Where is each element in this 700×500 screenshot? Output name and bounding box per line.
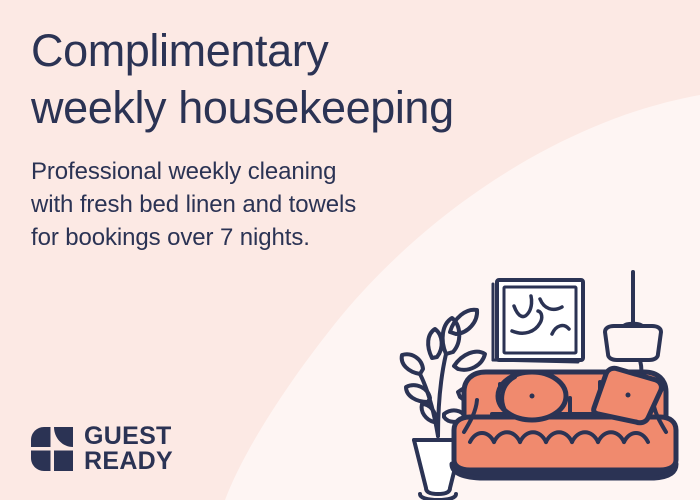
sofa-icon xyxy=(452,368,676,478)
logo-quadrant-top-left xyxy=(31,427,51,447)
living-room-illustration xyxy=(392,262,692,500)
brand-logo: GUEST READY xyxy=(31,424,173,474)
brand-word-ready: READY xyxy=(84,449,173,474)
guestready-logo-mark-icon xyxy=(31,427,73,471)
promo-banner: Complimentary weekly housekeeping Profes… xyxy=(0,0,700,500)
page-title: Complimentary weekly housekeeping xyxy=(31,22,591,136)
framed-artwork-icon xyxy=(493,280,583,362)
copy-block: Complimentary weekly housekeeping Profes… xyxy=(31,22,591,254)
logo-quadrant-bottom-right xyxy=(54,451,73,472)
brand-wordmark: GUEST READY xyxy=(84,424,173,474)
brand-word-guest: GUEST xyxy=(84,424,173,449)
pendant-lamp-icon xyxy=(605,272,661,380)
lamp-shade xyxy=(605,326,661,360)
sofa-round-cushion-button xyxy=(530,394,535,399)
logo-quadrant-bottom-left xyxy=(31,451,51,472)
sofa-square-cushion-button xyxy=(626,393,631,398)
subtitle-text: Professional weekly cleaning with fresh … xyxy=(31,155,591,254)
